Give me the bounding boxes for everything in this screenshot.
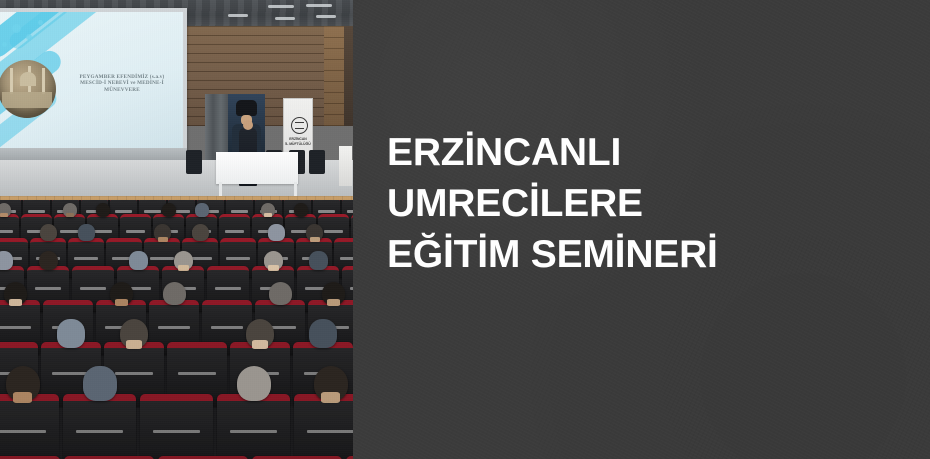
- audience-head: [162, 203, 176, 217]
- audience-head: [192, 224, 209, 241]
- audience-neck: [327, 299, 340, 306]
- audience-head-scarf: [78, 224, 95, 241]
- audience-neck: [0, 213, 8, 217]
- headline-line-2: UMRECİLERE: [387, 178, 915, 229]
- ceiling-light: [268, 5, 294, 8]
- audience-seat: [63, 394, 136, 459]
- audience-head-scarf: [309, 319, 337, 348]
- audience-neck: [13, 392, 32, 403]
- dome-icon: [20, 72, 36, 86]
- news-thumbnail-card[interactable]: PEYGAMBER EFENDİMİZ (s.a.v) MESCİD-İ NEB…: [0, 0, 930, 459]
- mosque-photo-circle: [0, 60, 56, 118]
- headline-panel: ERZİNCANLI UMRECİLERE EĞİTİM SEMİNERİ: [353, 0, 930, 459]
- headline-text: ERZİNCANLI UMRECİLERE EĞİTİM SEMİNERİ: [387, 127, 915, 280]
- audience-head: [269, 282, 292, 305]
- table-leg: [219, 182, 222, 196]
- audience-seating: [0, 200, 353, 459]
- headline-line-3: EĞİTİM SEMİNERİ: [387, 229, 915, 280]
- audience-head: [163, 282, 186, 305]
- wall-right-edge: [344, 26, 353, 126]
- audience-neck: [310, 237, 320, 242]
- wood-pillar: [324, 26, 344, 126]
- slide-text: PEYGAMBER EFENDİMİZ (s.a.v) MESCİD-İ NEB…: [66, 74, 178, 93]
- minaret-icon: [10, 68, 13, 94]
- audience-neck: [252, 340, 268, 349]
- presentation-table: [216, 152, 298, 184]
- audience-neck: [66, 213, 74, 217]
- audience-head-scarf: [83, 366, 117, 401]
- audience-head-scarf: [129, 251, 148, 270]
- audience-seat: [140, 394, 213, 459]
- audience-head: [294, 203, 308, 217]
- audience-head-scarf: [195, 203, 209, 217]
- audience-neck: [178, 265, 189, 271]
- ceiling-light: [316, 15, 336, 18]
- slide-text-line-3: MÜNEVVERE: [66, 87, 178, 93]
- stage-chair: [309, 150, 325, 174]
- institution-banner-text: ERZİNCAN İL MÜFTÜLÜĞÜ: [284, 137, 312, 146]
- audience-neck: [126, 340, 142, 349]
- table-leg: [294, 182, 297, 196]
- audience-head: [40, 224, 57, 241]
- audience-neck: [158, 237, 168, 242]
- audience-seat: [0, 394, 59, 459]
- audience-head: [39, 251, 58, 270]
- audience-seat: [294, 394, 353, 459]
- audience-head-scarf: [309, 251, 328, 270]
- audience-head-scarf: [268, 224, 285, 241]
- audience-neck: [321, 392, 340, 403]
- ceiling-light: [228, 14, 248, 17]
- podium: [339, 146, 352, 186]
- audience-neck: [268, 265, 279, 271]
- slide-dot: [26, 34, 32, 40]
- projector-screen: PEYGAMBER EFENDİMİZ (s.a.v) MESCİD-İ NEB…: [0, 12, 183, 148]
- audience-head-scarf: [0, 251, 13, 270]
- minaret-icon: [42, 68, 45, 94]
- slide-dot: [38, 20, 43, 25]
- seminar-photo: PEYGAMBER EFENDİMİZ (s.a.v) MESCİD-İ NEB…: [0, 0, 353, 459]
- audience-head-scarf: [57, 319, 85, 348]
- institution-logo-icon: [291, 117, 308, 134]
- ceiling-light: [306, 4, 332, 7]
- mosque-base: [2, 92, 52, 108]
- speaker-head: [243, 120, 253, 130]
- audience-head: [96, 203, 110, 217]
- headline-line-1: ERZİNCANLI: [387, 127, 915, 178]
- audience-neck: [264, 213, 272, 217]
- slide-text-line-2: MESCİD-İ NEBEVİ ve MEDİNE-İ: [66, 80, 178, 86]
- traditional-hat: [236, 100, 257, 116]
- slide-dot: [12, 24, 21, 33]
- audience-seat: [217, 394, 290, 459]
- ceiling-light: [275, 17, 295, 20]
- stage-chair: [186, 150, 202, 174]
- audience-neck: [115, 299, 128, 306]
- slide-dot: [2, 42, 7, 47]
- audience-head: [237, 366, 271, 401]
- banner-line-2: İL MÜFTÜLÜĞÜ: [284, 142, 312, 147]
- audience-neck: [9, 299, 22, 306]
